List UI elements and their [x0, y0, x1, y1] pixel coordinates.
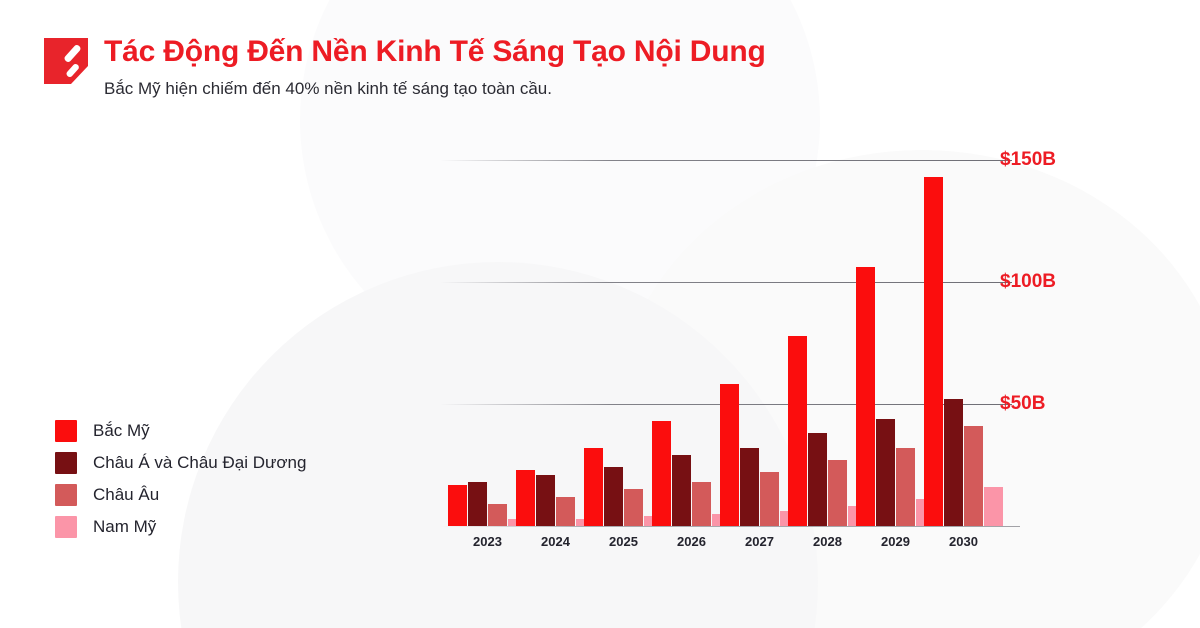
bar[interactable] [984, 487, 1003, 526]
brand-logo-icon [44, 38, 88, 84]
chart-legend: Bắc Mỹ Châu Á và Châu Đại Dương Châu Âu … [55, 415, 306, 543]
legend-swatch-icon [55, 420, 77, 442]
legend-swatch-icon [55, 484, 77, 506]
y-axis-tick-label: $150B [1000, 149, 1056, 171]
bar[interactable] [448, 485, 467, 527]
legend-item-label: Châu Âu [93, 485, 159, 505]
bar[interactable] [788, 336, 807, 526]
x-axis-tick-label: 2025 [609, 534, 638, 549]
x-axis-tick-label: 2026 [677, 534, 706, 549]
bar[interactable] [652, 421, 671, 526]
x-axis-tick-label: 2024 [541, 534, 570, 549]
x-axis-tick-label: 2027 [745, 534, 774, 549]
bar[interactable] [964, 426, 983, 526]
legend-item-label: Nam Mỹ [93, 517, 156, 537]
legend-item[interactable]: Châu Âu [55, 479, 306, 511]
bar[interactable] [876, 419, 895, 526]
bar[interactable] [556, 497, 575, 526]
bar[interactable] [944, 399, 963, 526]
chart-bars-layer [440, 150, 1020, 526]
legend-item[interactable]: Bắc Mỹ [55, 415, 306, 447]
bar[interactable] [516, 470, 535, 526]
bar[interactable] [672, 455, 691, 526]
legend-swatch-icon [55, 452, 77, 474]
bar[interactable] [760, 472, 779, 526]
legend-swatch-icon [55, 516, 77, 538]
bar[interactable] [488, 504, 507, 526]
x-axis-tick-label: 2030 [949, 534, 978, 549]
y-axis-tick-label: $50B [1000, 393, 1045, 415]
x-axis-tick-label: 2028 [813, 534, 842, 549]
legend-item-label: Bắc Mỹ [93, 421, 150, 441]
bar[interactable] [584, 448, 603, 526]
bar[interactable] [896, 448, 915, 526]
y-axis-tick-label: $100B [1000, 271, 1056, 293]
legend-item[interactable]: Châu Á và Châu Đại Dương [55, 447, 306, 479]
x-axis-tick-label: 2029 [881, 534, 910, 549]
chart-plot-area: $50B$100B$150B 2023202420252026202720282… [440, 150, 1020, 530]
bar[interactable] [624, 489, 643, 526]
bar[interactable] [856, 267, 875, 526]
chart-header: Tác Động Đến Nền Kinh Tế Sáng Tạo Nội Du… [44, 34, 766, 100]
bar[interactable] [692, 482, 711, 526]
bar[interactable] [828, 460, 847, 526]
legend-item[interactable]: Nam Mỹ [55, 511, 306, 543]
bar[interactable] [604, 467, 623, 526]
bar[interactable] [740, 448, 759, 526]
page-subtitle: Bắc Mỹ hiện chiếm đến 40% nền kinh tế sá… [104, 78, 766, 100]
bar[interactable] [924, 177, 943, 526]
legend-item-label: Châu Á và Châu Đại Dương [93, 453, 306, 473]
bar-group [924, 150, 1003, 526]
bar[interactable] [468, 482, 487, 526]
chart-page: Tác Động Đến Nền Kinh Tế Sáng Tạo Nội Du… [0, 0, 1200, 628]
x-axis-tick-label: 2023 [473, 534, 502, 549]
bar[interactable] [808, 433, 827, 526]
chart-baseline-axis [440, 526, 1020, 527]
bar[interactable] [720, 384, 739, 526]
bar[interactable] [536, 475, 555, 526]
page-title: Tác Động Đến Nền Kinh Tế Sáng Tạo Nội Du… [104, 34, 766, 69]
